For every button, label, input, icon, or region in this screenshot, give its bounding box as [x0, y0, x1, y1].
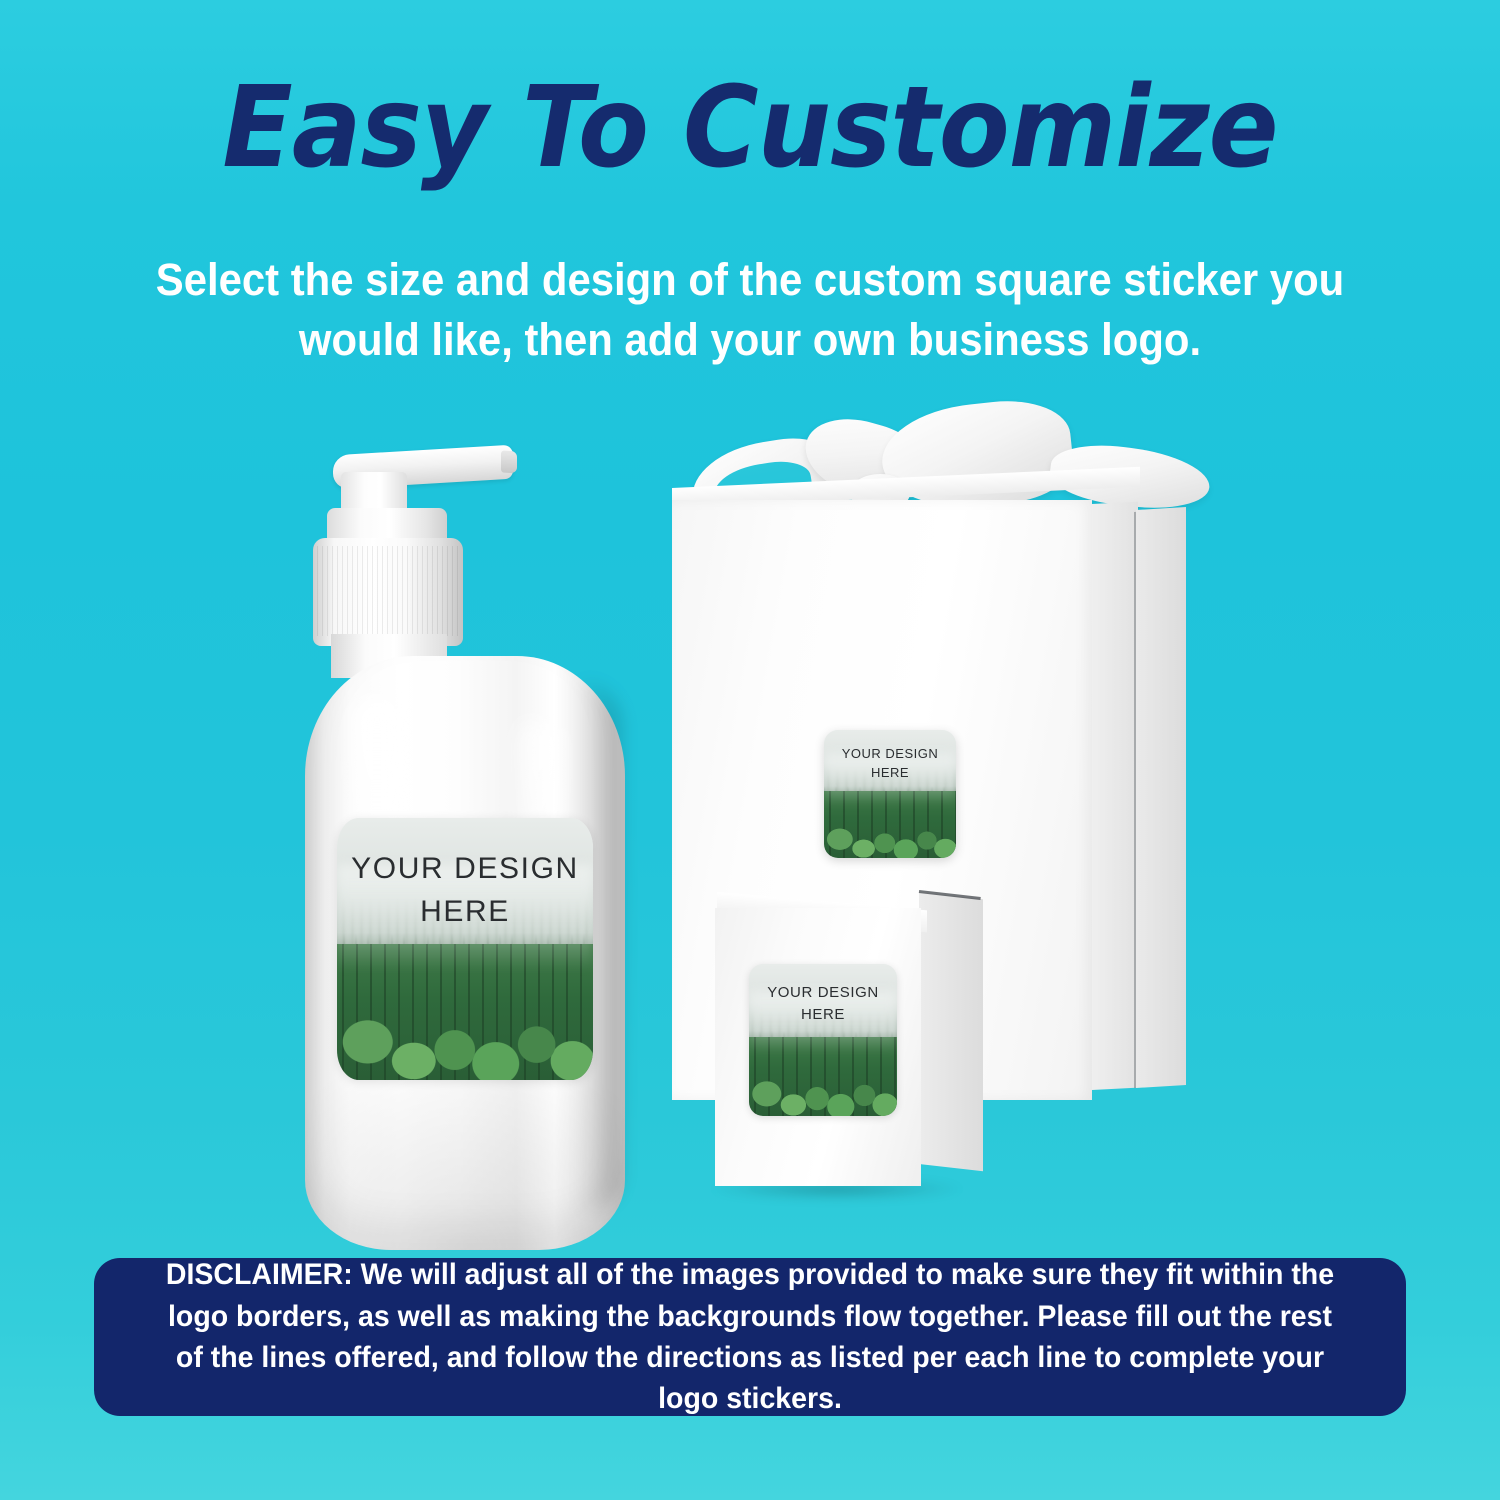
sticker-placeholder-text: YOUR DESIGN HERE	[749, 982, 897, 1026]
design-text-line2: HERE	[337, 890, 593, 934]
disclaimer-lead: DISCLAIMER:	[166, 1258, 353, 1291]
sticker-on-small-box[interactable]: YOUR DESIGN HERE	[749, 964, 897, 1116]
sticker-on-gift-box[interactable]: YOUR DESIGN HERE	[824, 730, 956, 858]
gift-box-side-panel	[1092, 502, 1138, 1090]
sticker-placeholder-text: YOUR DESIGN HERE	[824, 745, 956, 783]
design-text-line2: HERE	[749, 1004, 897, 1026]
pump-bottle: YOUR DESIGN HERE	[305, 420, 625, 1250]
page-subtitle: Select the size and design of the custom…	[155, 250, 1345, 371]
sticker-placeholder-text: YOUR DESIGN HERE	[337, 847, 593, 934]
promo-banner: Easy To Customize Select the size and de…	[0, 0, 1500, 1500]
design-text-line1: YOUR DESIGN	[337, 847, 593, 891]
small-product-box: YOUR DESIGN HERE	[715, 892, 985, 1192]
pump-ribbed-collar	[313, 538, 463, 646]
small-box-side-panel	[919, 892, 983, 1171]
page-title: Easy To Customize	[60, 72, 1440, 184]
design-text-line2: HERE	[824, 764, 956, 783]
product-scene: YOUR DESIGN HERE	[0, 380, 1500, 1260]
design-text-line1: YOUR DESIGN	[749, 982, 897, 1004]
design-text-line1: YOUR DESIGN	[824, 745, 956, 764]
gift-box-lid-panel	[1136, 507, 1186, 1088]
gift-box-lid-edge	[1134, 512, 1136, 1088]
sticker-on-bottle[interactable]: YOUR DESIGN HERE	[337, 818, 593, 1080]
disclaimer-banner: DISCLAIMER: We will adjust all of the im…	[94, 1258, 1406, 1416]
disclaimer-text: DISCLAIMER: We will adjust all of the im…	[152, 1254, 1349, 1420]
